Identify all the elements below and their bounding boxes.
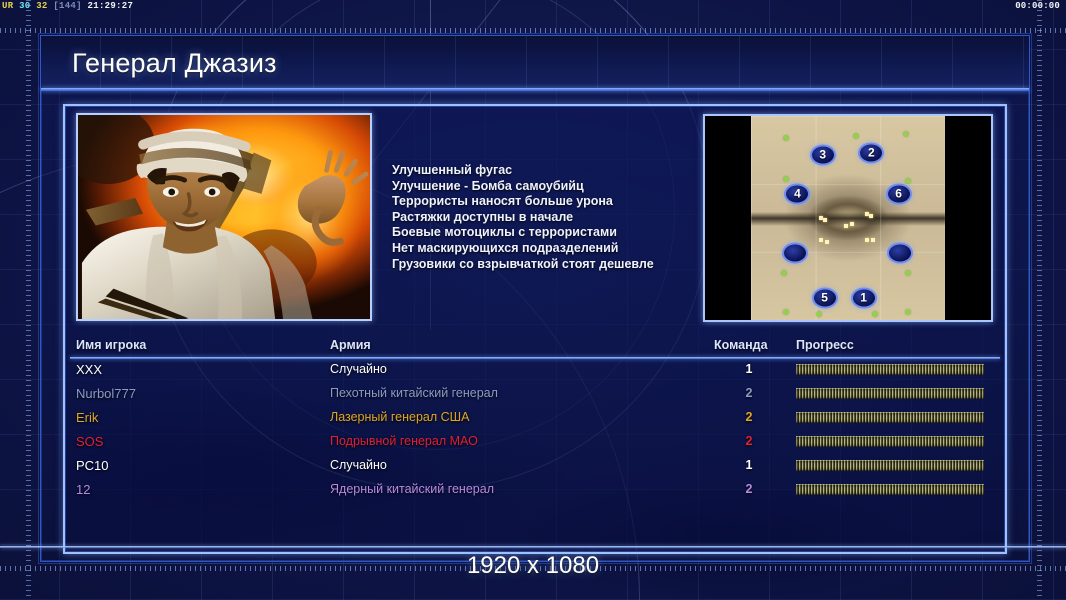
description-line: Улучшенный фугас — [392, 163, 692, 179]
player-army: Случайно — [330, 362, 387, 376]
description-line: Грузовики со взрывчаткой стоят дешевле — [392, 257, 692, 273]
general-description-list: Улучшенный фугас Улучшение - Бомба самоу… — [392, 163, 692, 272]
player-progress-bar — [796, 412, 984, 423]
player-progress-bar — [796, 460, 984, 471]
map-resource-marker — [906, 271, 911, 276]
ruler-band-right — [1037, 0, 1042, 600]
map-tech-building-marker — [819, 238, 823, 242]
player-team: 2 — [741, 434, 757, 448]
player-name: Erik — [76, 410, 98, 425]
description-line: Улучшение - Бомба самоубийц — [392, 179, 692, 195]
fps-overlay-clock: 21:29:27 — [88, 1, 134, 11]
column-header: Имя игрока — [76, 338, 146, 352]
fps-overlay-value-2: 32 — [36, 1, 47, 11]
fps-overlay-value-1: 30 — [19, 1, 30, 11]
map-preview-inner: 324651 — [705, 116, 991, 320]
player-row[interactable]: SOSПодрывной генерал МАО2 — [76, 432, 994, 456]
player-row[interactable]: XXXСлучайно1 — [76, 360, 994, 384]
player-name: PC10 — [76, 458, 109, 473]
player-row[interactable]: 12Ядерный китайский генерал2 — [76, 480, 994, 504]
map-start-position-empty-5[interactable] — [887, 242, 913, 263]
description-line: Нет маскирующихся подразделений — [392, 241, 692, 257]
juhziz-portrait-explosion-image — [78, 115, 370, 320]
player-team: 1 — [741, 458, 757, 472]
map-resource-marker — [816, 311, 821, 316]
description-line: Боевые мотоциклы с террористами — [392, 225, 692, 241]
player-row[interactable]: PC10Случайно1 — [76, 456, 994, 480]
map-start-position-2[interactable]: 2 — [858, 142, 884, 163]
game-timer-overlay: 00:00:00 — [1015, 1, 1060, 11]
player-army: Случайно — [330, 458, 387, 472]
map-start-position-6[interactable]: 6 — [886, 183, 912, 204]
map-start-position-4[interactable]: 4 — [784, 183, 810, 204]
map-tech-building-marker — [844, 224, 848, 228]
player-team: 1 — [741, 362, 757, 376]
map-tech-building-marker — [825, 240, 829, 244]
fps-overlay: UR 30 32 [144] 21:29:27 — [2, 1, 133, 11]
title-underline — [41, 88, 1029, 91]
player-name: XXX — [76, 362, 102, 377]
map-resource-marker — [906, 309, 911, 314]
player-army: Подрывной генерал МАО — [330, 434, 478, 448]
map-gridlines — [751, 116, 945, 320]
resolution-label: 1920 x 1080 — [0, 552, 1066, 580]
map-tech-building-marker — [850, 222, 854, 226]
map-resource-marker — [783, 309, 788, 314]
map-start-position-1[interactable]: 1 — [851, 287, 877, 308]
fps-overlay-prefix: UR — [2, 1, 13, 11]
column-header: Прогресс — [796, 338, 854, 352]
player-army: Лазерный генерал США — [330, 410, 469, 424]
map-resource-marker — [904, 132, 909, 137]
map-start-position-5[interactable]: 5 — [812, 287, 838, 308]
page-title: Генерал Джазиз — [72, 48, 277, 79]
description-line: Террористы наносят больше урона — [392, 194, 692, 210]
ruler-band-top — [0, 28, 1066, 33]
description-line: Растяжки доступны в начале — [392, 210, 692, 226]
player-team: 2 — [741, 386, 757, 400]
player-team: 2 — [741, 482, 757, 496]
map-tech-building-marker — [871, 238, 875, 242]
column-header: Команда — [714, 338, 768, 352]
player-army: Пехотный китайский генерал — [330, 386, 498, 400]
player-row[interactable]: Nurbol777Пехотный китайский генерал2 — [76, 384, 994, 408]
map-resource-marker — [783, 177, 788, 182]
player-name: SOS — [76, 434, 103, 449]
footer-rule — [0, 546, 1066, 548]
table-header: Имя игрокаАрмияКомандаПрогресс — [76, 338, 994, 355]
column-header: Армия — [330, 338, 371, 352]
player-progress-bar — [796, 484, 984, 495]
player-army: Ядерный китайский генерал — [330, 482, 494, 496]
fps-overlay-bracket: [144] — [53, 1, 82, 11]
map-start-position-3[interactable]: 3 — [810, 144, 836, 165]
player-list: XXXСлучайно1Nurbol777Пехотный китайский … — [76, 360, 994, 532]
map-resource-marker — [873, 311, 878, 316]
map-start-position-empty-4[interactable] — [782, 242, 808, 263]
ruler-band-left — [26, 0, 31, 600]
player-name: Nurbol777 — [76, 386, 136, 401]
player-row[interactable]: ErikЛазерный генерал США2 — [76, 408, 994, 432]
map-tech-building-marker — [865, 238, 869, 242]
table-header-rule — [70, 357, 1000, 359]
general-portrait — [76, 113, 372, 321]
map-terrain: 324651 — [751, 116, 945, 320]
map-resource-marker — [853, 134, 858, 139]
map-tech-building-marker — [823, 218, 827, 222]
map-resource-marker — [783, 136, 788, 141]
player-progress-bar — [796, 364, 984, 375]
player-team: 2 — [741, 410, 757, 424]
map-resource-marker — [781, 271, 786, 276]
map-preview[interactable]: 324651 — [703, 114, 993, 322]
player-progress-bar — [796, 388, 984, 399]
map-resource-marker — [906, 179, 911, 184]
player-progress-bar — [796, 436, 984, 447]
player-name: 12 — [76, 482, 90, 497]
map-tech-building-marker — [869, 214, 873, 218]
